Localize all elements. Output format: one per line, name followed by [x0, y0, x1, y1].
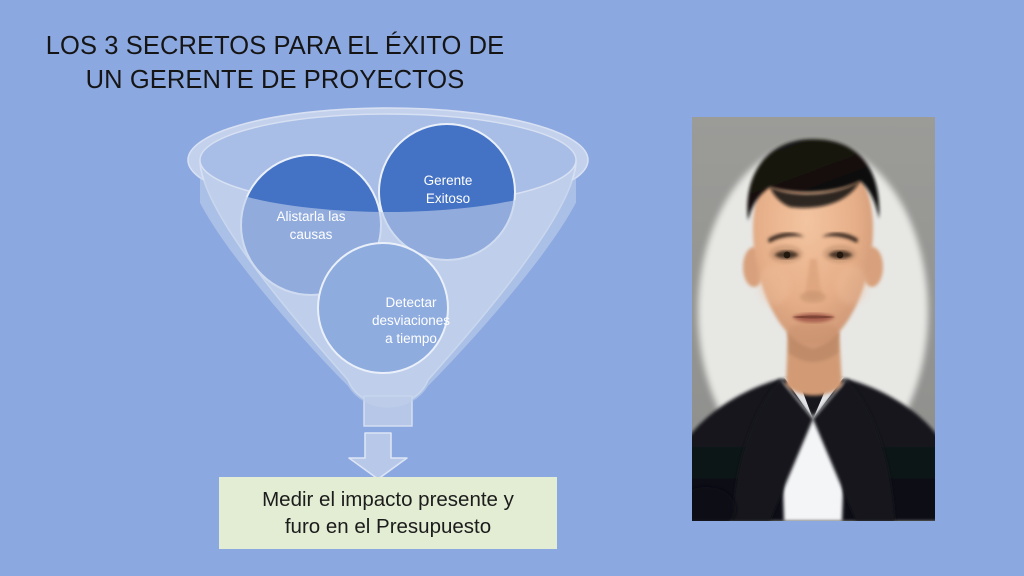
funnel-diagram: [178, 108, 598, 448]
presentation-slide: LOS 3 SECRETOS PARA EL ÉXITO DE UN GEREN…: [0, 0, 1024, 576]
slide-title: LOS 3 SECRETOS PARA EL ÉXITO DE UN GEREN…: [40, 30, 510, 97]
down-arrow-icon: [347, 432, 409, 480]
portrait-photo: [692, 117, 935, 521]
funnel-circle-detectar[interactable]: [318, 243, 448, 373]
conclusion-text: Medir el impacto presente y furo en el P…: [262, 486, 514, 541]
conclusion-box: Medir el impacto presente y furo en el P…: [219, 477, 557, 549]
